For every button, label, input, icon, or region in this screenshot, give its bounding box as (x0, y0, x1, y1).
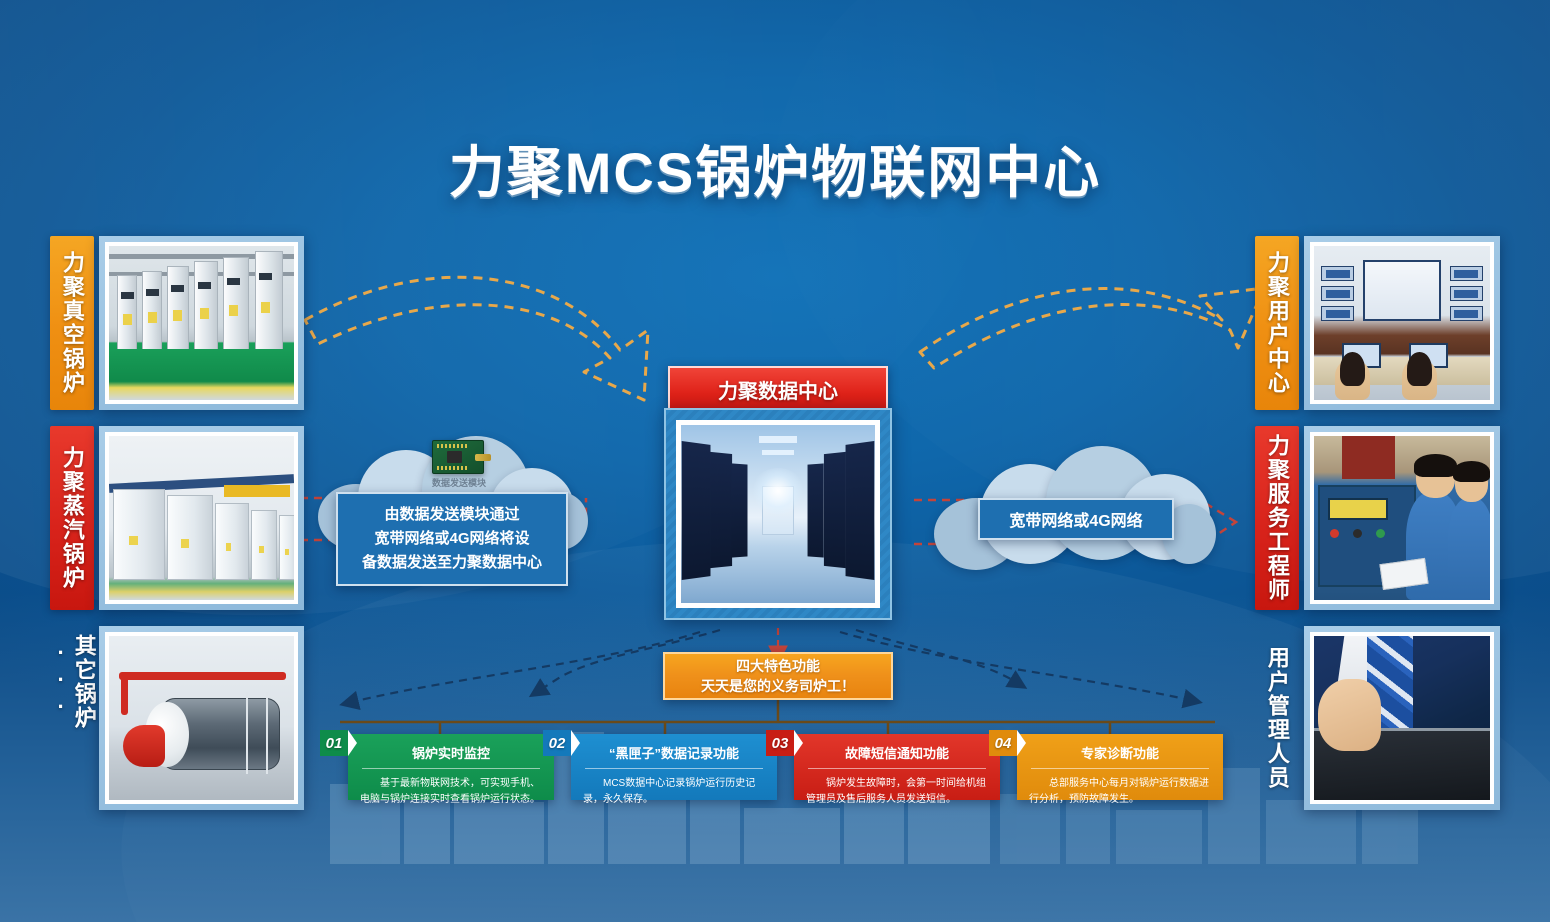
feature-card-01-body: 基于最新物联网技术，可实现手机、电脑与锅炉连接实时查看锅炉运行状态。 (348, 769, 554, 816)
vacuum-boiler-cabinets-photo (109, 246, 294, 400)
left-panel-photo-steam (99, 426, 304, 610)
right-panel-service-engineer[interactable]: 力聚服务工程师 (1255, 426, 1500, 610)
right-panel-manager[interactable]: 用户管理人员 (1255, 626, 1500, 810)
right-panel-photo-user-center (1304, 236, 1500, 410)
feature-card-number-02: 02 (543, 730, 571, 756)
feature-card-02-body: MCS数据中心记录锅炉运行历史记录，永久保存。 (571, 769, 777, 816)
left-panel-vacuum-boiler[interactable]: 力聚真空锅炉 (50, 236, 304, 410)
feature-card-03-title: 故障短信通知功能 (794, 734, 1000, 768)
feature-card-02-title: “黑匣子”数据记录功能 (571, 734, 777, 768)
left-panel-label-vacuum: 力聚真空锅炉 (50, 236, 94, 410)
feature-card-number-01: 01 (320, 730, 348, 756)
feature-card-04-title: 专家诊断功能 (1017, 734, 1223, 768)
left-panel-steam-boiler[interactable]: 力聚蒸汽锅炉 (50, 426, 304, 610)
service-engineer-photo (1314, 436, 1490, 600)
feature-card-01-title: 锅炉实时监控 (348, 734, 554, 768)
data-send-module-pcb (432, 440, 484, 474)
feature-card-03-body: 锅炉发生故障时，会第一时间给机组管理员及售后服务人员发送短信。 (794, 769, 1000, 816)
user-center-control-room-photo (1314, 246, 1490, 400)
right-panel-label-user-center: 力聚用户中心 (1255, 236, 1299, 410)
right-panel-photo-service-engineer (1304, 426, 1500, 610)
feature-banner-line2: 天天是您的义务司炉工！ (701, 676, 855, 696)
left-cloud-caption: 由数据发送模块通过 宽带网络或4G网络将设 备数据发送至力聚数据中心 (336, 492, 568, 586)
feature-card-number-03: 03 (766, 730, 794, 756)
data-send-module-label: 数据发送模块 (384, 476, 534, 489)
other-boiler-photo (109, 636, 294, 800)
left-cloud-caption-line2: 宽带网络或4G网络将设 (348, 527, 556, 551)
right-cloud-caption: 宽带网络或4G网络 (978, 498, 1174, 540)
feature-card-01[interactable]: 锅炉实时监控 基于最新物联网技术，可实现手机、电脑与锅炉连接实时查看锅炉运行状态… (348, 734, 554, 800)
left-panel-other-boiler[interactable]: 其它锅炉 ... (50, 626, 304, 810)
data-center-banner: 力聚数据中心 (668, 366, 888, 413)
left-cloud-caption-line1: 由数据发送模块通过 (348, 503, 556, 527)
feature-card-number-04: 04 (989, 730, 1017, 756)
infographic-poster: 力聚MCS锅炉物联网中心 力聚真空锅炉 力聚蒸汽锅炉 (0, 0, 1550, 922)
data-center-photo-frame (664, 408, 892, 620)
page-title: 力聚MCS锅炉物联网中心 (0, 128, 1550, 209)
right-panel-user-center[interactable]: 力聚用户中心 (1255, 236, 1500, 410)
right-panel-label-manager: 用户管理人员 (1255, 626, 1299, 810)
feature-banner-line1: 四大特色功能 (736, 656, 820, 676)
server-room-corridor-photo (676, 420, 880, 608)
right-panel-photo-manager (1304, 626, 1500, 810)
right-panel-label-service-engineer: 力聚服务工程师 (1255, 426, 1299, 610)
manager-laptop-photo (1314, 636, 1490, 800)
steam-boiler-units-photo (109, 436, 294, 600)
left-panel-label-other: 其它锅炉 ... (50, 626, 94, 810)
left-cloud-caption-line3: 备数据发送至力聚数据中心 (348, 551, 556, 575)
feature-card-02[interactable]: “黑匣子”数据记录功能 MCS数据中心记录锅炉运行历史记录，永久保存。 (571, 734, 777, 800)
feature-card-04[interactable]: 专家诊断功能 总部服务中心每月对锅炉运行数据进行分析，预防故障发生。 (1017, 734, 1223, 800)
feature-card-03[interactable]: 故障短信通知功能 锅炉发生故障时，会第一时间给机组管理员及售后服务人员发送短信。 (794, 734, 1000, 800)
left-panel-photo-other (99, 626, 304, 810)
feature-card-04-body: 总部服务中心每月对锅炉运行数据进行分析，预防故障发生。 (1017, 769, 1223, 816)
left-panel-label-steam: 力聚蒸汽锅炉 (50, 426, 94, 610)
left-panel-photo-vacuum (99, 236, 304, 410)
feature-banner: 四大特色功能 天天是您的义务司炉工！ (663, 652, 893, 700)
